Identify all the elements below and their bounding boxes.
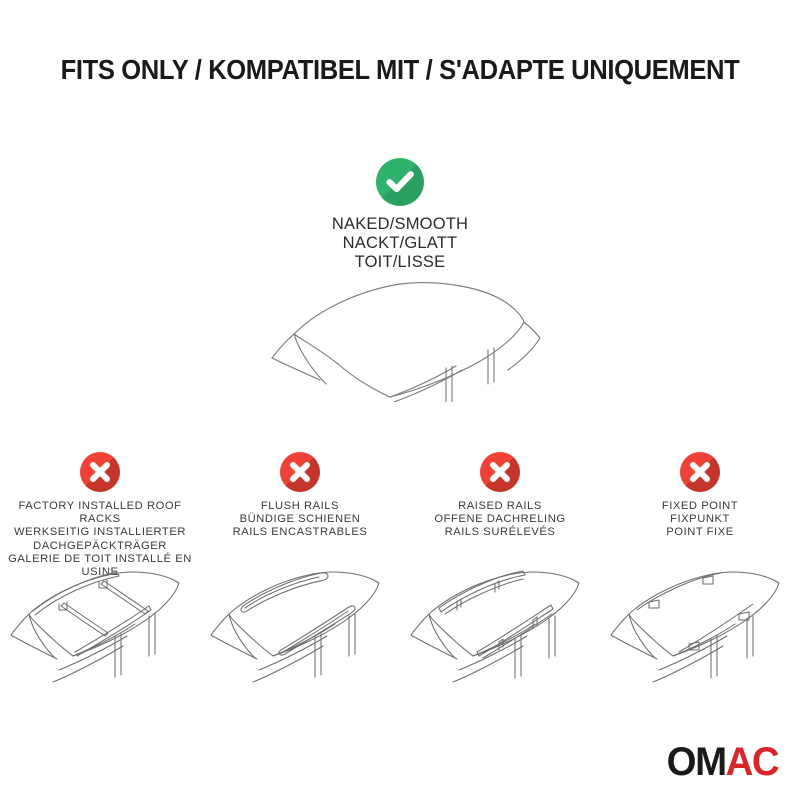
car-roof-flush-rails-illustration (200, 552, 400, 692)
rejected-label-line-de: FIXPUNKT (600, 513, 800, 526)
car-roof-factory-rack-svg (3, 552, 198, 692)
rejected-label: FIXED POINT FIXPUNKT POINT FIXE (600, 500, 800, 540)
rejected-label: FLUSH RAILS BÜNDIGE SCHIENEN RAILS ENCAS… (200, 500, 400, 540)
rejected-label-line-fr: POINT FIXE (600, 526, 800, 539)
car-roof-raised-rails-svg (403, 552, 598, 692)
x-mark-glyph (80, 452, 120, 492)
x-mark-glyph (480, 452, 520, 492)
car-roof-flush-rails-svg (203, 552, 398, 692)
rejected-label-line-en: FIXED POINT (600, 500, 800, 513)
x-circle-icon (280, 452, 320, 492)
check-mark-glyph (376, 158, 424, 206)
rejected-illustrations-row (0, 552, 800, 692)
rejected-label-line-en: RAISED RAILS (400, 500, 600, 513)
check-circle-icon (376, 158, 424, 206)
car-roof-raised-rails-illustration (400, 552, 600, 692)
x-circle-icon (480, 452, 520, 492)
rejected-label-line-en: FLUSH RAILS (200, 500, 400, 513)
logo-text-om: OM (666, 740, 725, 784)
page-title: FITS ONLY / KOMPATIBEL MIT / S'ADAPTE UN… (28, 54, 772, 86)
approved-label-line-en: NAKED/SMOOTH (0, 215, 800, 234)
approved-label-line-fr: TOIT/LISSE (0, 253, 800, 272)
car-roof-factory-rack-illustration (0, 552, 200, 692)
car-roof-naked-smooth-illustration (250, 272, 550, 402)
x-circle-icon (80, 452, 120, 492)
x-mark-glyph (280, 452, 320, 492)
car-roof-fixed-point-svg (603, 552, 798, 692)
rejected-label-line-fr: RAILS ENCASTRABLES (200, 526, 400, 539)
car-roof-fixed-point-illustration (600, 552, 800, 692)
x-mark-glyph (680, 452, 720, 492)
rejected-label-line-de: OFFENE DACHRELING (400, 513, 600, 526)
car-roof-naked-smooth-svg (250, 272, 550, 402)
rejected-label: RAISED RAILS OFFENE DACHRELING RAILS SUR… (400, 500, 600, 540)
omac-logo: OMAC (666, 742, 778, 782)
rejected-label-line-de: BÜNDIGE SCHIENEN (200, 513, 400, 526)
logo-text-ac: AC (725, 740, 778, 784)
approved-section: NAKED/SMOOTH NACKT/GLATT TOIT/LISSE (0, 158, 800, 272)
rejected-label-line-de-2: DACHGEPÄCKTRÄGER (0, 540, 200, 553)
rejected-label-line-de-1: WERKSEITIG INSTALLIERTER (0, 526, 200, 539)
approved-label-line-de: NACKT/GLATT (0, 234, 800, 253)
rejected-label-line-en: FACTORY INSTALLED ROOF RACKS (0, 500, 200, 526)
rejected-label-line-fr: RAILS SURÉLEVÉS (400, 526, 600, 539)
approved-label: NAKED/SMOOTH NACKT/GLATT TOIT/LISSE (0, 215, 800, 272)
x-circle-icon (680, 452, 720, 492)
